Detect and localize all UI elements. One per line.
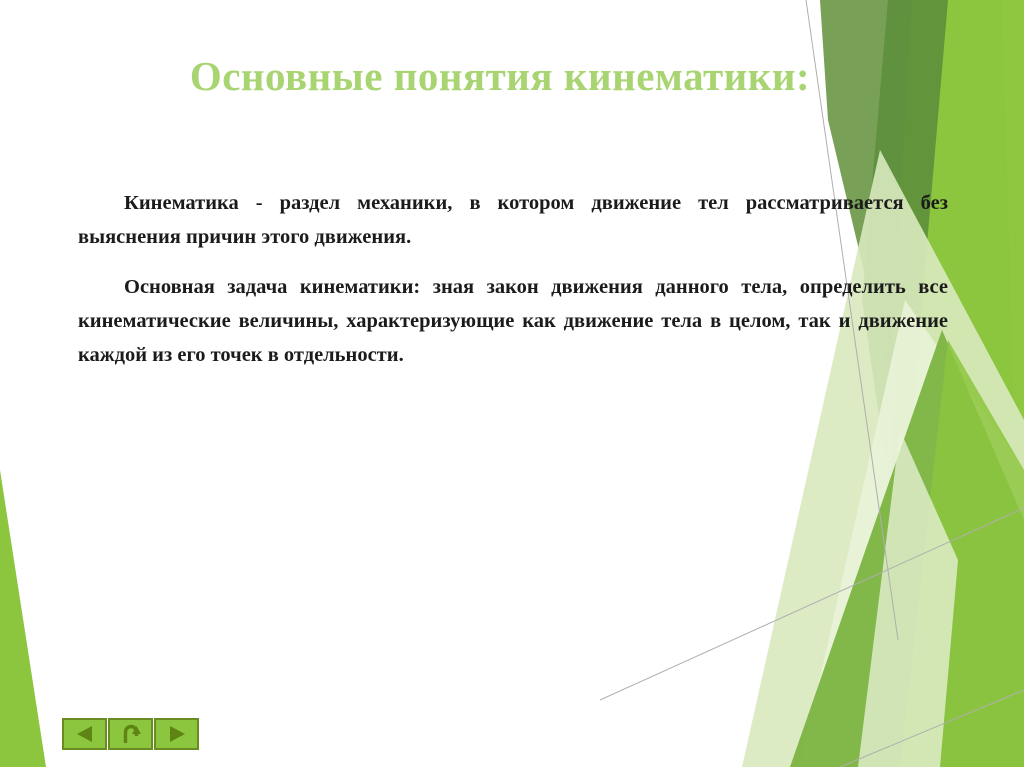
decor-right-edge-band [980,0,1024,767]
u-turn-arrow-icon [121,723,141,745]
previous-slide-button[interactable] [62,718,107,750]
return-button[interactable] [108,718,153,750]
slide-navigation-bar [62,718,199,750]
page-title: Основные понятия кинематики: [0,52,1000,100]
decor-mid-green-triangle [790,330,1024,767]
paragraph-definition: Кинематика - раздел механики, в котором … [78,186,948,254]
decor-guide-line-diagonal [600,508,1024,700]
decor-guide-line-diagonal-2 [840,690,1024,767]
triangle-right-icon [166,724,188,744]
decor-bottom-left-wedge [0,470,46,767]
decor-bright-bottom-right [900,340,1024,767]
next-slide-button[interactable] [154,718,199,750]
triangle-left-icon [74,724,96,744]
paragraph-main-task: Основная задача кинематики: зная закон д… [78,270,948,372]
background-decoration [0,0,1024,767]
slide-body: Кинематика - раздел механики, в котором … [78,186,948,372]
decor-bright-column [882,0,1024,767]
slide-canvas: Основные понятия кинематики: Кинематика … [0,0,1024,767]
decor-pale-sliver [858,430,958,767]
